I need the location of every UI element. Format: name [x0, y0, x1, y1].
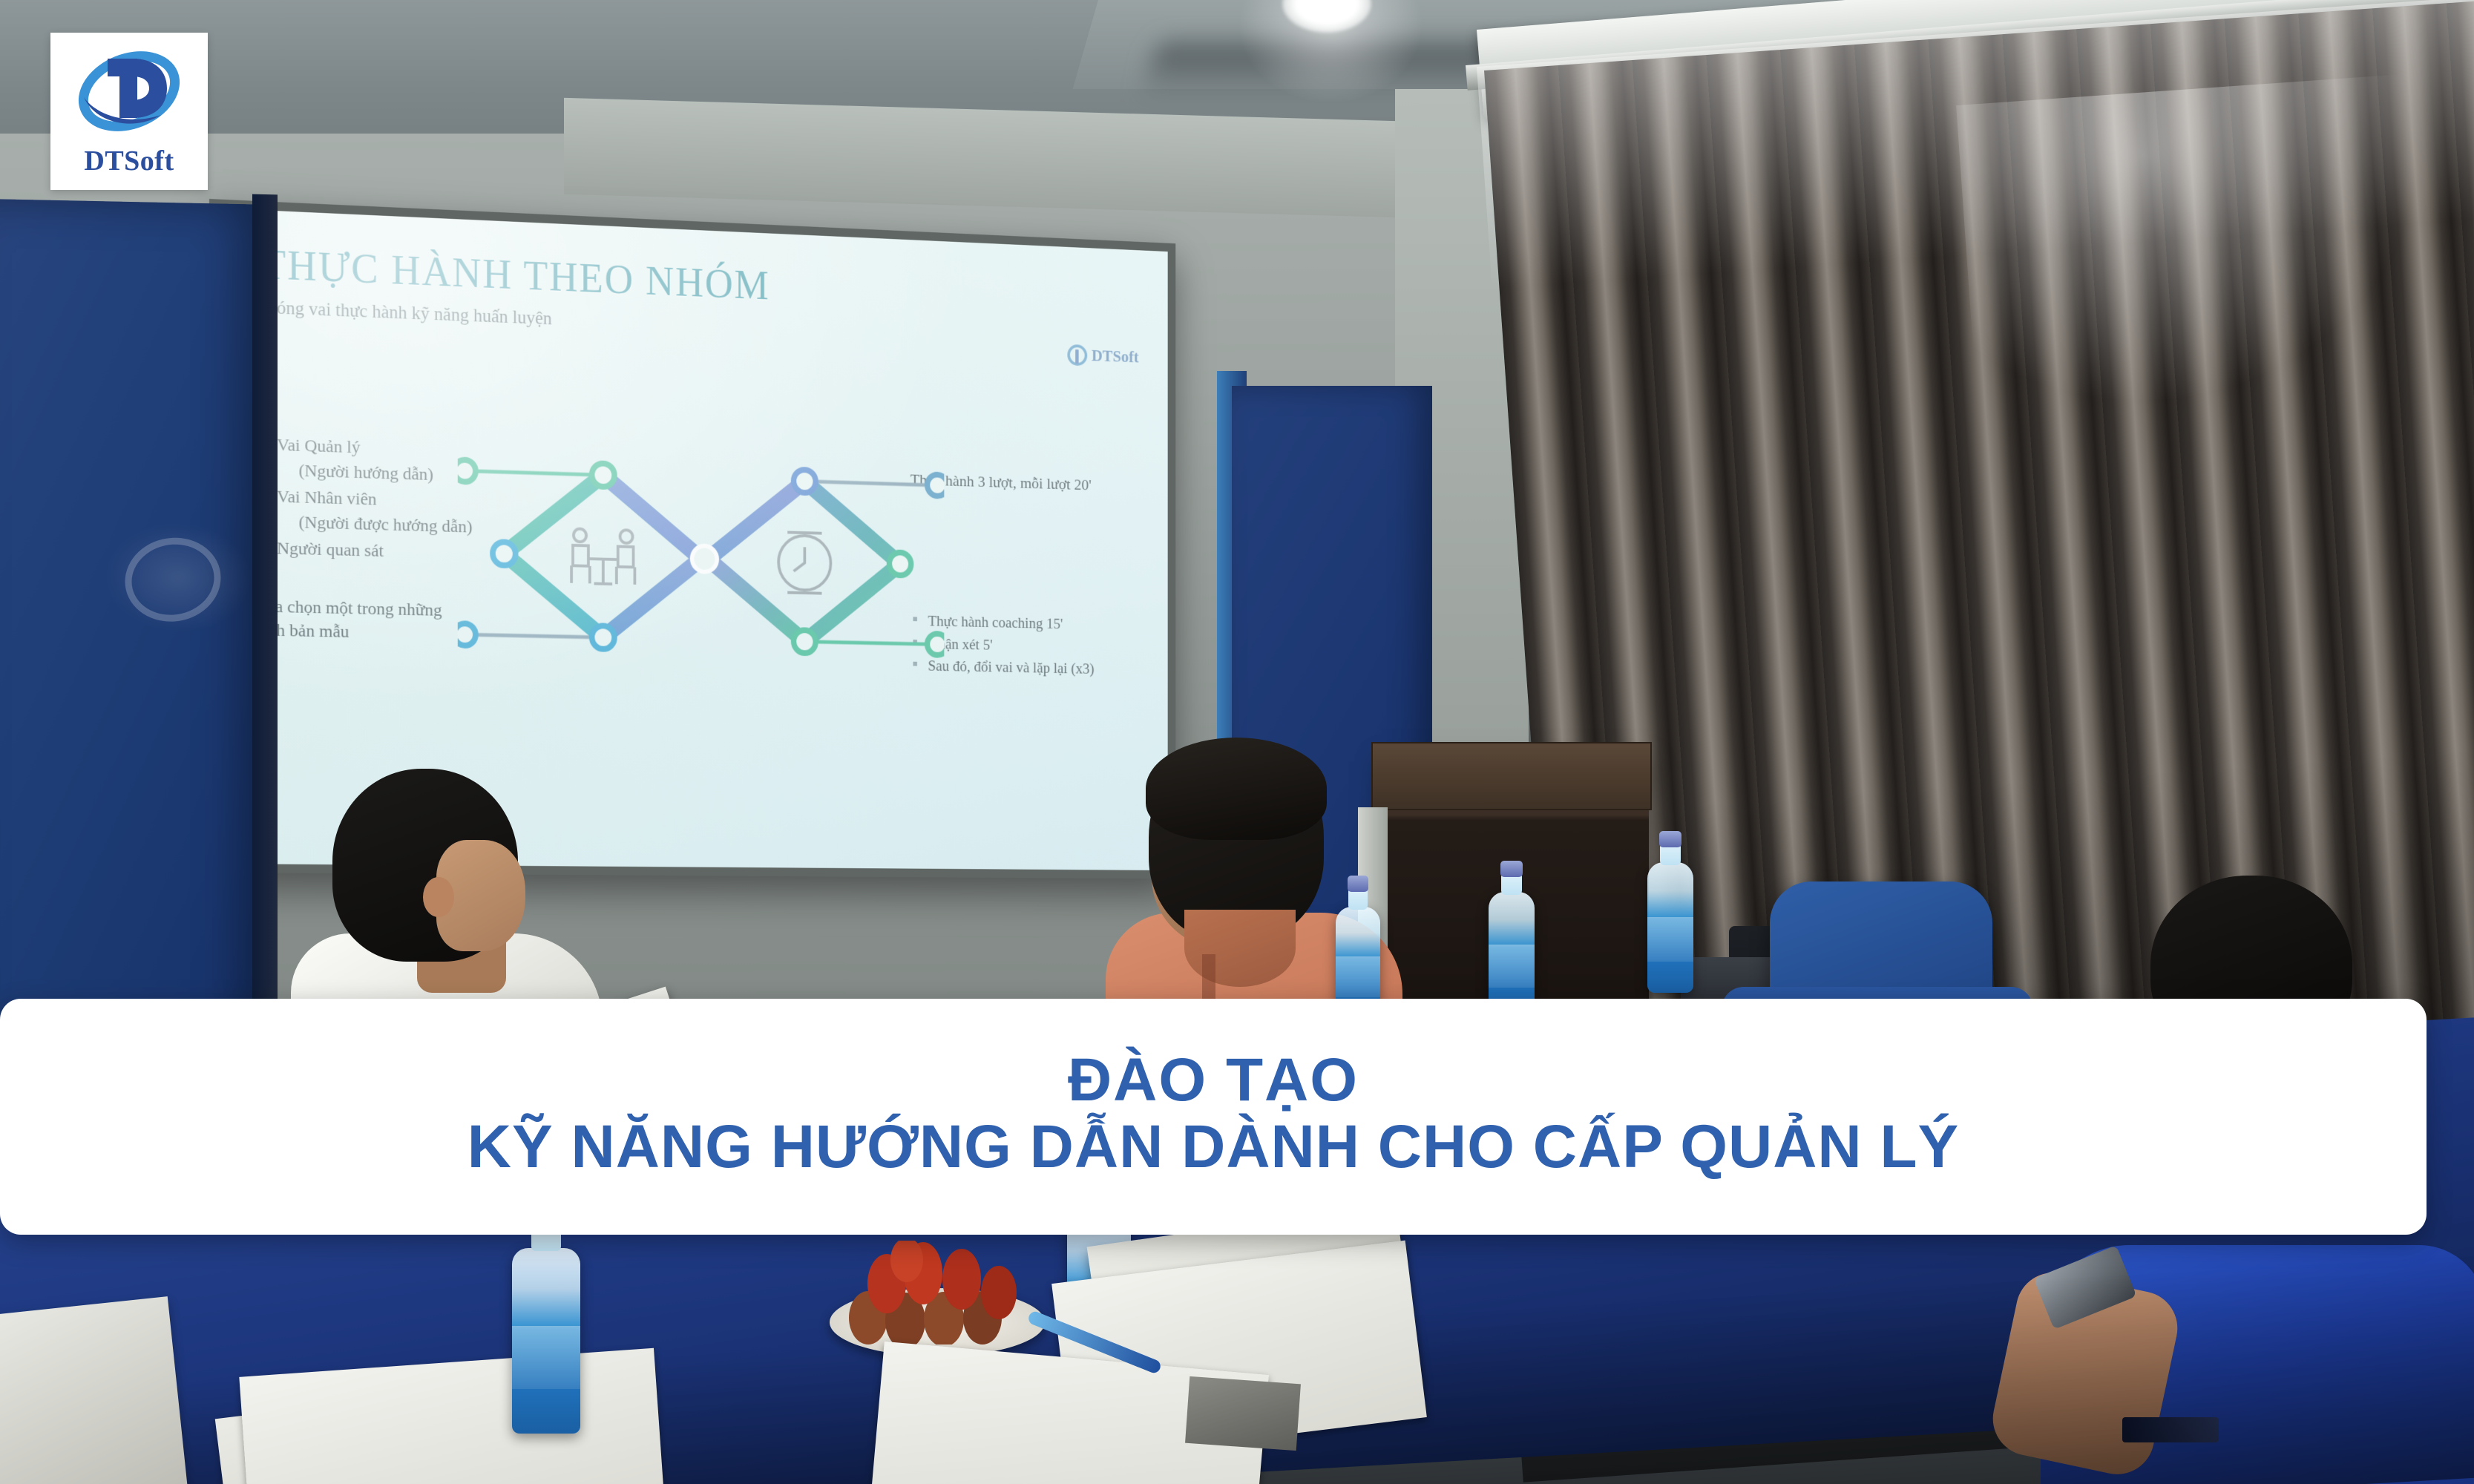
- role-label: Người quan sát: [277, 539, 384, 562]
- dtsoft-orbit-icon: [73, 45, 185, 143]
- photo-canvas: THỰC HÀNH THEO NHÓM Đóng vai thực hành k…: [0, 0, 2474, 1484]
- dtsoft-brand-text: DTSoft: [84, 145, 174, 177]
- slide-title: THỰC HÀNH THEO NHÓM: [260, 241, 770, 309]
- podium-top: [1371, 742, 1652, 810]
- clock-icon: [778, 532, 830, 594]
- curtain-light-pool: [1956, 73, 2437, 416]
- dtsoft-orbit-icon: [1068, 344, 1088, 367]
- blue-backdrop-edge: [252, 194, 278, 1056]
- slide-dtsoft-logo: DTSoft: [1068, 344, 1139, 368]
- fruit-pile: [824, 1241, 1054, 1345]
- banner-title-line1: ĐÀO TẠO: [1068, 1048, 1359, 1113]
- blue-backdrop-left: [0, 199, 269, 1058]
- slide-subtitle: Đóng vai thực hành kỹ năng huấn luyện: [263, 298, 551, 329]
- water-bottle: [1647, 862, 1693, 993]
- role-label: Vai Quản lý: [277, 436, 360, 457]
- role-label: Vai Nhân viên: [277, 487, 377, 510]
- slide-diagram: [458, 439, 945, 674]
- slide-left-note: Lựa chọn một trong những kịch bản mẫu: [255, 594, 472, 646]
- shirt-collar: [1184, 910, 1296, 987]
- water-bottle: [512, 1248, 580, 1434]
- banner-title-line2: KỸ NĂNG HƯỚNG DẪN DÀNH CHO CẤP QUẢN LÝ: [467, 1113, 1959, 1181]
- slide-logo-brand: DTSoft: [1092, 347, 1139, 367]
- ear: [423, 877, 454, 917]
- title-banner: ĐÀO TẠO KỸ NĂNG HƯỚNG DẪN DÀNH CHO CẤP Q…: [0, 999, 2427, 1235]
- hair: [1146, 738, 1327, 840]
- meeting-table-icon: [571, 528, 634, 584]
- handout-paper: [0, 1296, 188, 1484]
- list-item: Sau đó, đổi vai và lặp lại (x3): [910, 654, 1151, 681]
- slide-right-list: Thực hành coaching 15' Nhận xét 5' Sau đ…: [910, 610, 1151, 682]
- dtsoft-logo-badge: DTSoft: [50, 33, 208, 190]
- printed-photo: [1185, 1376, 1301, 1451]
